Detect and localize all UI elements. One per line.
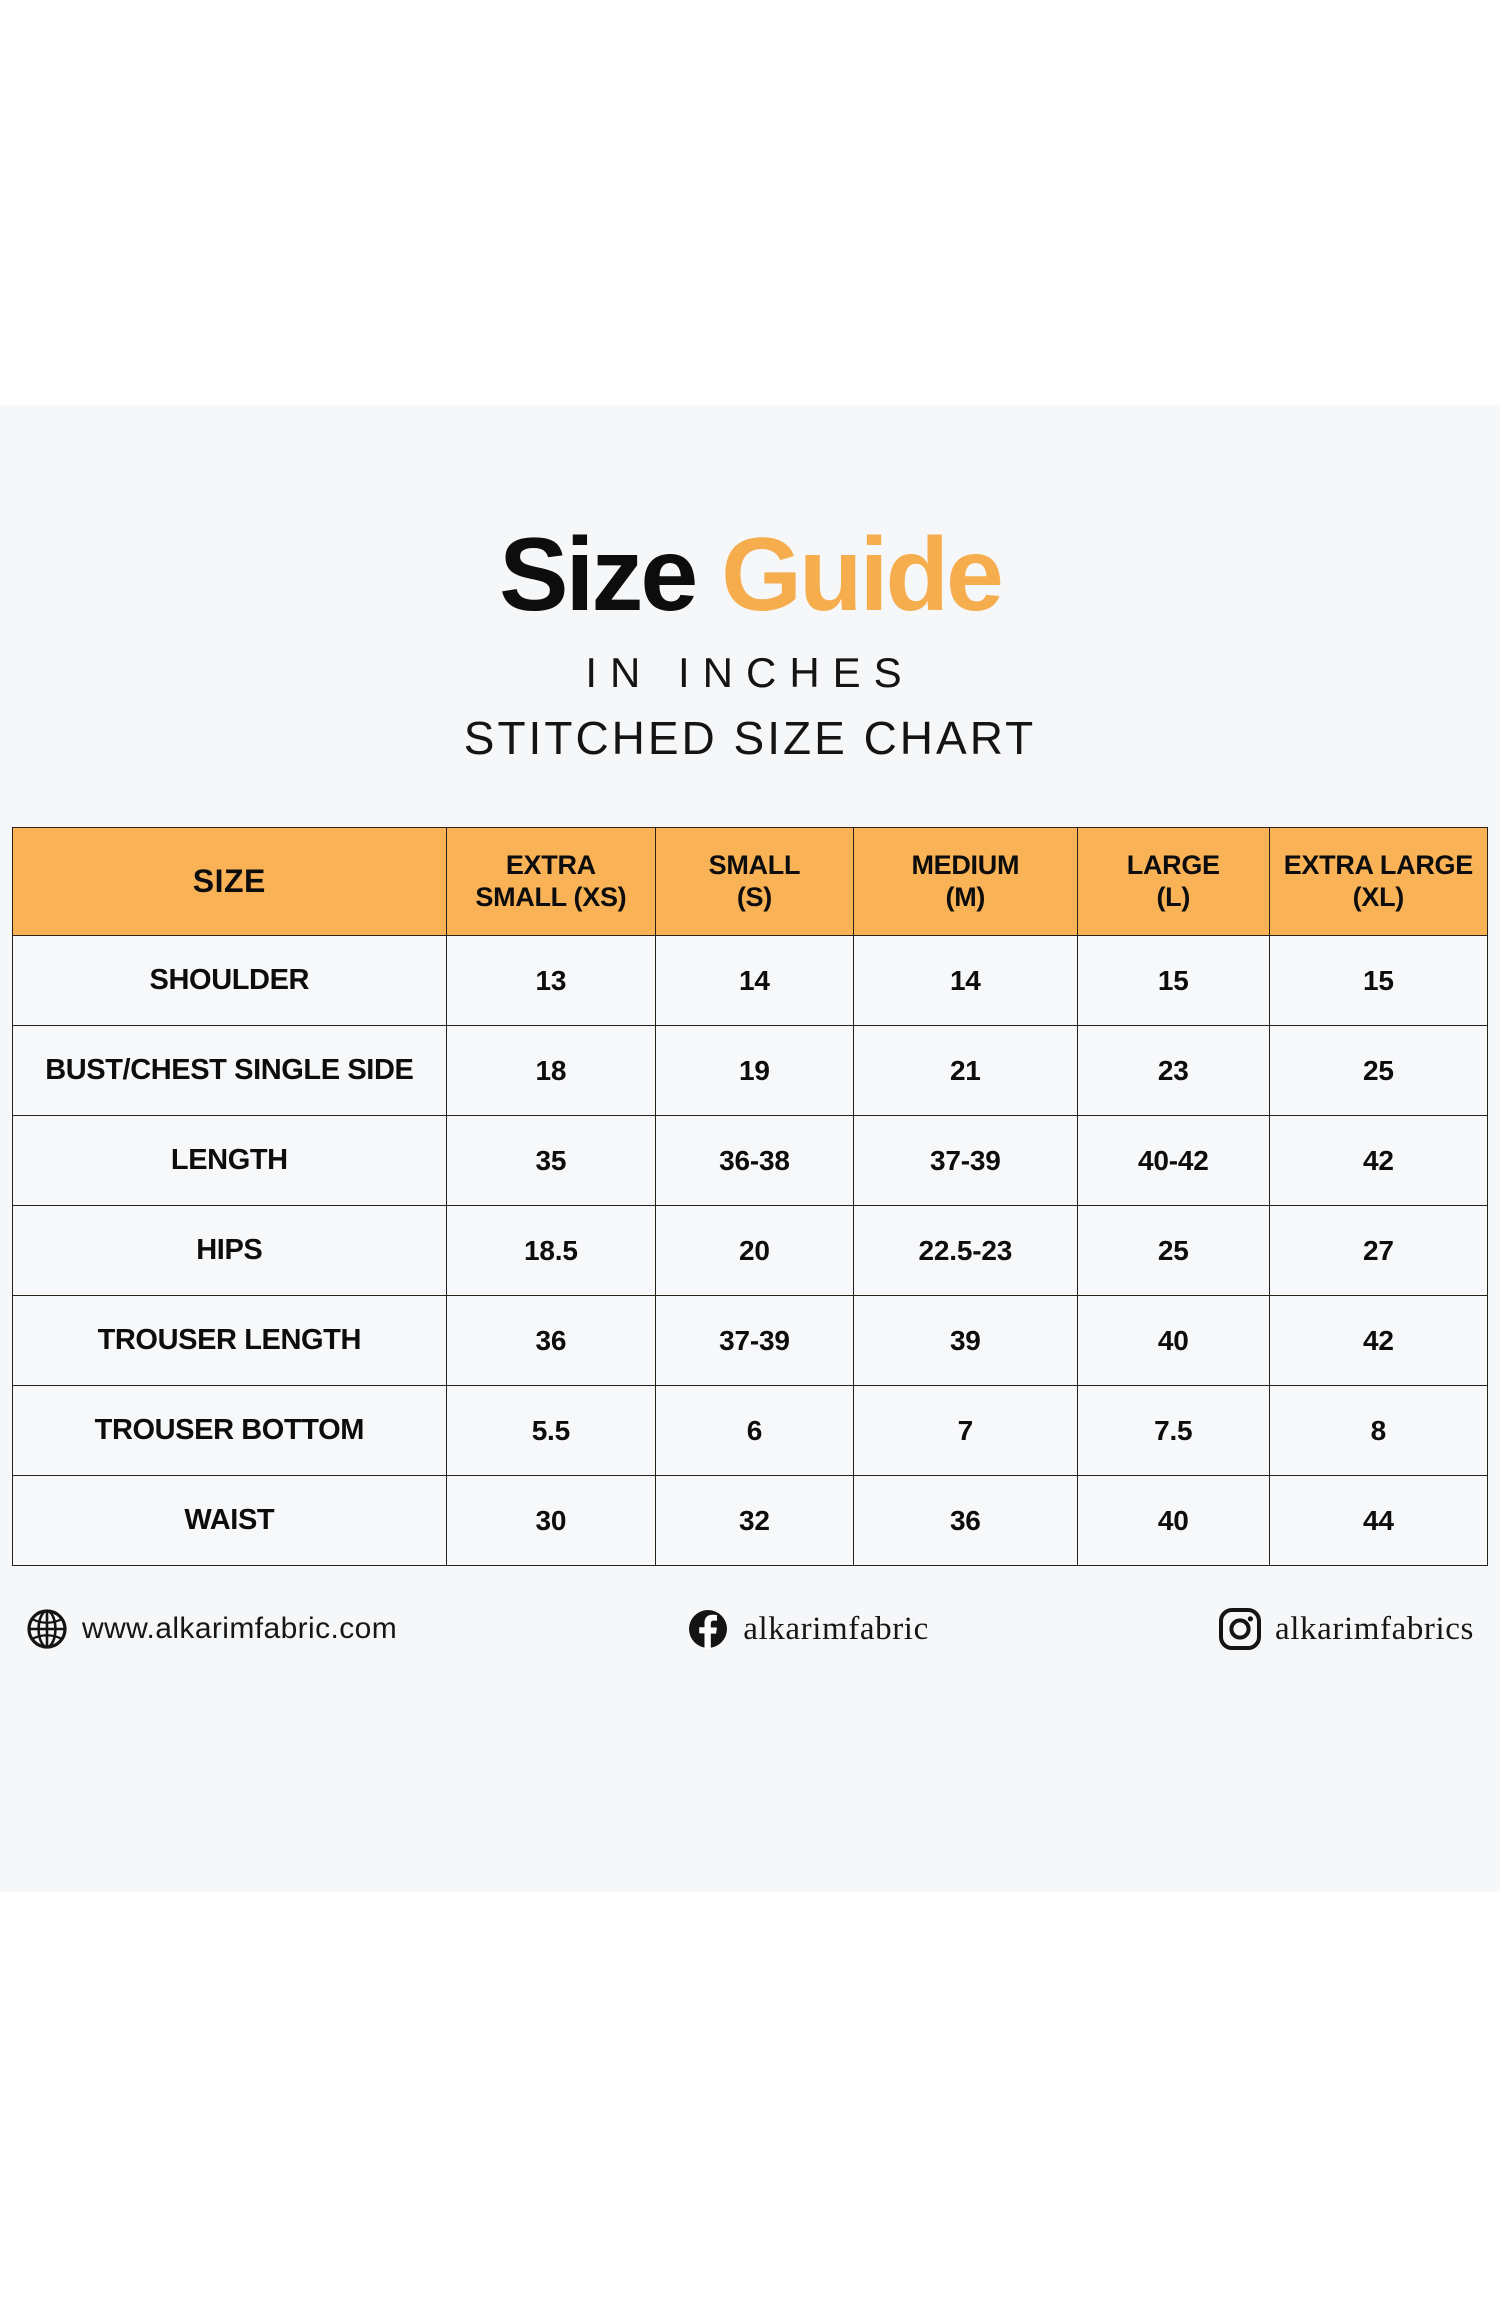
cell-length-l: 40-42 (1077, 1116, 1269, 1206)
size-guide-card: Size Guide IN INCHES STITCHED SIZE CHART… (0, 405, 1500, 1892)
cell-waist-xl: 44 (1269, 1476, 1487, 1566)
cell-hips-m: 22.5-23 (853, 1206, 1077, 1296)
cell-shoulder-l: 15 (1077, 936, 1269, 1026)
cell-trouser-length-xs: 36 (446, 1296, 655, 1386)
table-row: BUST/CHEST SINGLE SIDE 18 19 21 23 25 (13, 1026, 1488, 1116)
column-header-m-line2: (M) (946, 882, 986, 912)
column-header-size: SIZE (13, 828, 447, 936)
column-header-m: MEDIUM (M) (853, 828, 1077, 936)
cell-waist-s: 32 (656, 1476, 854, 1566)
column-header-size-line1: SIZE (193, 863, 266, 899)
cell-shoulder-s: 14 (656, 936, 854, 1026)
column-header-xs-line1: EXTRA (506, 850, 596, 880)
title-word-guide: Guide (721, 517, 1001, 633)
column-header-xl-line1: EXTRA LARGE (1284, 850, 1473, 880)
facebook-link[interactable]: alkarimfabric (687, 1608, 929, 1650)
cell-length-s: 36-38 (656, 1116, 854, 1206)
cell-hips-l: 25 (1077, 1206, 1269, 1296)
instagram-link[interactable]: alkarimfabrics (1219, 1608, 1474, 1650)
globe-icon (26, 1608, 68, 1650)
cell-trouser-bottom-m: 7 (853, 1386, 1077, 1476)
table-row: TROUSER LENGTH 36 37-39 39 40 42 (13, 1296, 1488, 1386)
cell-trouser-bottom-l: 7.5 (1077, 1386, 1269, 1476)
title-word-size: Size (499, 517, 695, 633)
cell-bust-xl: 25 (1269, 1026, 1487, 1116)
instagram-icon (1219, 1608, 1261, 1650)
cell-shoulder-xl: 15 (1269, 936, 1487, 1026)
table-row: WAIST 30 32 36 40 44 (13, 1476, 1488, 1566)
table-row: LENGTH 35 36-38 37-39 40-42 42 (13, 1116, 1488, 1206)
cell-hips-s: 20 (656, 1206, 854, 1296)
size-table: SIZE EXTRA SMALL (XS) SMALL (S) MEDIUM (12, 827, 1488, 1566)
row-label-bust-chest: BUST/CHEST SINGLE SIDE (13, 1026, 447, 1116)
cell-trouser-length-m: 39 (853, 1296, 1077, 1386)
cell-length-xs: 35 (446, 1116, 655, 1206)
cell-trouser-bottom-s: 6 (656, 1386, 854, 1476)
cell-waist-l: 40 (1077, 1476, 1269, 1566)
cell-hips-xs: 18.5 (446, 1206, 655, 1296)
facebook-label: alkarimfabric (743, 1611, 929, 1648)
column-header-l-line1: LARGE (1127, 850, 1220, 880)
website-label: www.alkarimfabric.com (82, 1612, 397, 1646)
cell-trouser-length-xl: 42 (1269, 1296, 1487, 1386)
page-title: Size Guide (0, 523, 1500, 627)
column-header-l-line2: (L) (1156, 882, 1190, 912)
instagram-label: alkarimfabrics (1275, 1611, 1474, 1648)
table-row: SHOULDER 13 14 14 15 15 (13, 936, 1488, 1026)
column-header-l: LARGE (L) (1077, 828, 1269, 936)
cell-bust-l: 23 (1077, 1026, 1269, 1116)
column-header-xl-line2: (XL) (1353, 882, 1404, 912)
cell-length-xl: 42 (1269, 1116, 1487, 1206)
subtitle-units: IN INCHES (0, 649, 1500, 697)
row-label-trouser-bottom: TROUSER BOTTOM (13, 1386, 447, 1476)
column-header-s-line1: SMALL (709, 850, 800, 880)
cell-bust-xs: 18 (446, 1026, 655, 1116)
column-header-xs: EXTRA SMALL (XS) (446, 828, 655, 936)
cell-bust-m: 21 (853, 1026, 1077, 1116)
cell-length-m: 37-39 (853, 1116, 1077, 1206)
cell-trouser-bottom-xl: 8 (1269, 1386, 1487, 1476)
row-label-length: LENGTH (13, 1116, 447, 1206)
cell-waist-xs: 30 (446, 1476, 655, 1566)
row-label-hips: HIPS (13, 1206, 447, 1296)
column-header-xs-line2: SMALL (XS) (475, 882, 626, 912)
cell-waist-m: 36 (853, 1476, 1077, 1566)
cell-hips-xl: 27 (1269, 1206, 1487, 1296)
column-header-m-line1: MEDIUM (911, 850, 1019, 880)
cell-trouser-length-l: 40 (1077, 1296, 1269, 1386)
table-row: TROUSER BOTTOM 5.5 6 7 7.5 8 (13, 1386, 1488, 1476)
subtitle-chart-type: STITCHED SIZE CHART (0, 711, 1500, 765)
column-header-xl: EXTRA LARGE (XL) (1269, 828, 1487, 936)
facebook-icon (687, 1608, 729, 1650)
title-block: Size Guide IN INCHES STITCHED SIZE CHART (0, 405, 1500, 765)
footer: www.alkarimfabric.com alkarimfabric (0, 1608, 1500, 1650)
cell-shoulder-xs: 13 (446, 936, 655, 1026)
cell-shoulder-m: 14 (853, 936, 1077, 1026)
cell-trouser-length-s: 37-39 (656, 1296, 854, 1386)
column-header-s-line2: (S) (737, 882, 772, 912)
row-label-waist: WAIST (13, 1476, 447, 1566)
row-label-trouser-length: TROUSER LENGTH (13, 1296, 447, 1386)
cell-trouser-bottom-xs: 5.5 (446, 1386, 655, 1476)
table-header-row: SIZE EXTRA SMALL (XS) SMALL (S) MEDIUM (13, 828, 1488, 936)
size-table-wrapper: SIZE EXTRA SMALL (XS) SMALL (S) MEDIUM (0, 827, 1500, 1566)
cell-bust-s: 19 (656, 1026, 854, 1116)
column-header-s: SMALL (S) (656, 828, 854, 936)
row-label-shoulder: SHOULDER (13, 936, 447, 1026)
size-guide-page: Size Guide IN INCHES STITCHED SIZE CHART… (0, 0, 1500, 2300)
table-row: HIPS 18.5 20 22.5-23 25 27 (13, 1206, 1488, 1296)
website-link[interactable]: www.alkarimfabric.com (26, 1608, 397, 1650)
